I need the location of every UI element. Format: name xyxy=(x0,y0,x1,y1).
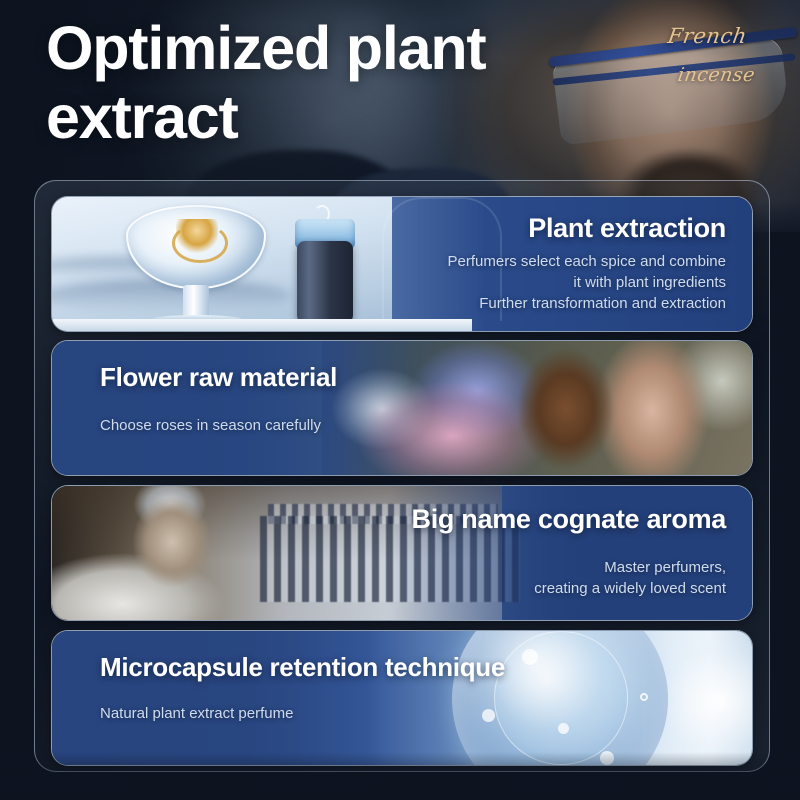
card-1-subtitle-line-1: Perfumers select each spice and combine xyxy=(78,251,726,272)
card-1-text-block: Plant extraction Perfumers select each s… xyxy=(52,197,752,331)
card-1-subtitle: Perfumers select each spice and combine … xyxy=(78,251,726,315)
card-1-subtitle-line-3: Further transformation and extraction xyxy=(78,293,726,314)
card-4-subtitle-line-1: Natural plant extract perfume xyxy=(100,703,752,724)
page-title: Optimized plant extract xyxy=(46,14,646,152)
card-4-title: Microcapsule retention technique xyxy=(100,653,752,683)
card-4-subtitle: Natural plant extract perfume xyxy=(100,703,752,724)
card-2-text-block: Flower raw material Choose roses in seas… xyxy=(52,341,752,475)
card-1-title: Plant extraction xyxy=(78,213,726,244)
product-feature-poster: Optimized plant extract French incense P… xyxy=(0,0,800,800)
card-2-subtitle: Choose roses in season carefully xyxy=(100,415,752,436)
page-title-line-2: extract xyxy=(46,83,238,151)
feature-card-flower-raw-material[interactable]: Flower raw material Choose roses in seas… xyxy=(51,340,753,476)
brand-script-line-2: incense xyxy=(676,64,779,86)
card-3-subtitle: Master perfumers, creating a widely love… xyxy=(52,557,726,600)
feature-card-big-name-cognate-aroma[interactable]: Big name cognate aroma Master perfumers,… xyxy=(51,485,753,621)
card-3-subtitle-line-1: Master perfumers, xyxy=(52,557,726,578)
feature-card-plant-extraction[interactable]: Plant extraction Perfumers select each s… xyxy=(51,196,753,332)
feature-card-microcapsule-retention-technique[interactable]: Microcapsule retention technique Natural… xyxy=(51,630,753,766)
brand-script-line-1: French xyxy=(666,24,780,48)
page-title-line-1: Optimized plant xyxy=(46,14,486,82)
card-3-title: Big name cognate aroma xyxy=(52,504,726,535)
brand-script-mark: French incense xyxy=(668,24,778,86)
card-4-text-block: Microcapsule retention technique Natural… xyxy=(52,631,752,765)
card-1-subtitle-line-2: it with plant ingredients xyxy=(78,272,726,293)
card-3-text-block: Big name cognate aroma Master perfumers,… xyxy=(52,486,752,620)
card-2-title: Flower raw material xyxy=(100,363,752,393)
card-3-subtitle-line-2: creating a widely loved scent xyxy=(52,578,726,599)
card-2-subtitle-line-1: Choose roses in season carefully xyxy=(100,415,752,436)
